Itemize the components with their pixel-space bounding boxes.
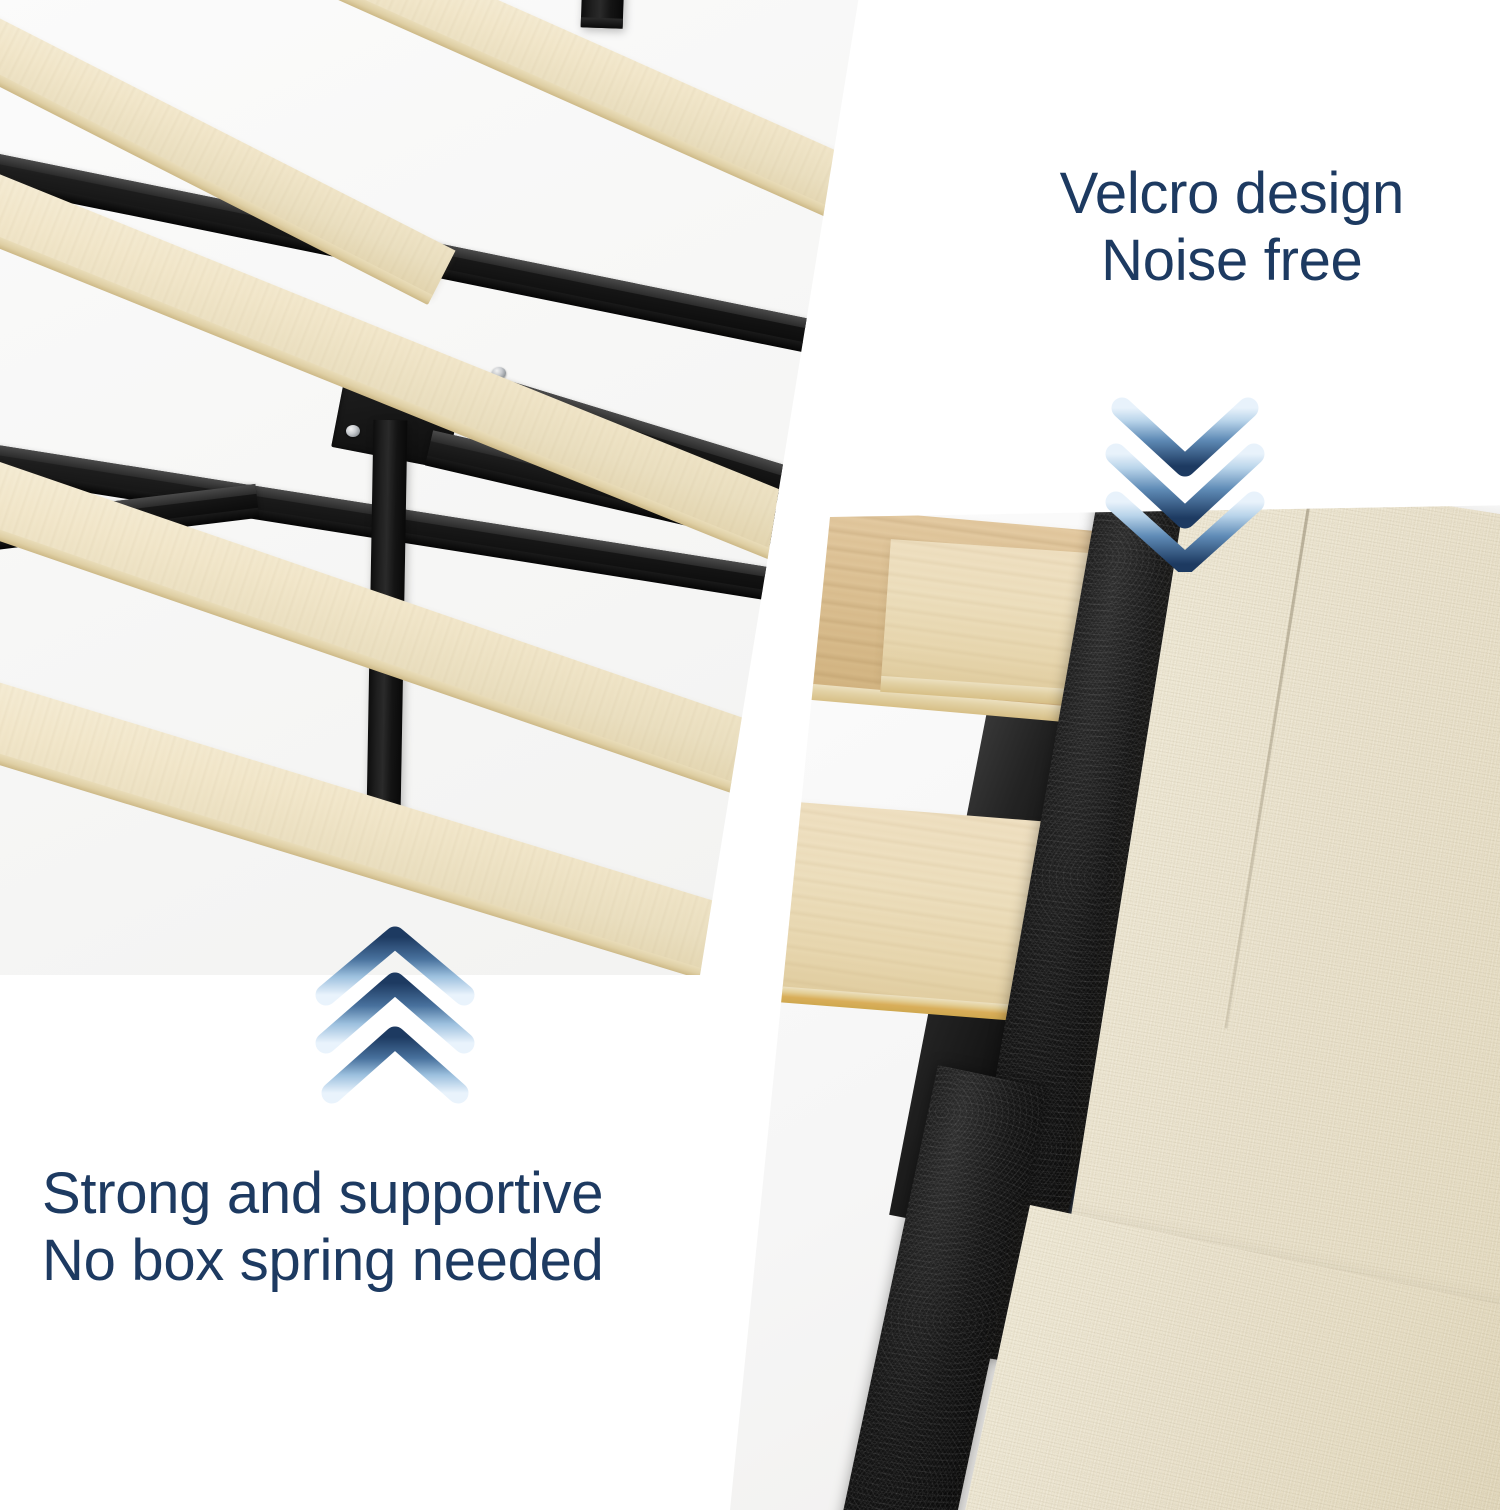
arrow-group-up <box>300 925 490 1105</box>
infographic-canvas: Velcro design Noise free Strong and supp… <box>0 0 1500 1500</box>
chevron-up-3 <box>332 1037 458 1093</box>
chevron-down-1 <box>1122 408 1248 466</box>
chevron-down-icon-set <box>1090 392 1280 572</box>
screw-lower-icon <box>346 425 360 437</box>
velcro-closeup-panel <box>700 505 1500 1510</box>
chevron-up-icon-set <box>300 925 490 1105</box>
velcro-closeup-photo <box>700 505 1500 1510</box>
caption-strong-supportive: Strong and supportive No box spring need… <box>42 1160 604 1295</box>
caption-velcro-design: Velcro design Noise free <box>1060 160 1404 295</box>
arrow-group-down <box>1090 392 1280 572</box>
bed-frame-photo <box>0 0 900 990</box>
bed-frame-panel <box>0 0 900 990</box>
steel-post-corner <box>581 0 626 29</box>
